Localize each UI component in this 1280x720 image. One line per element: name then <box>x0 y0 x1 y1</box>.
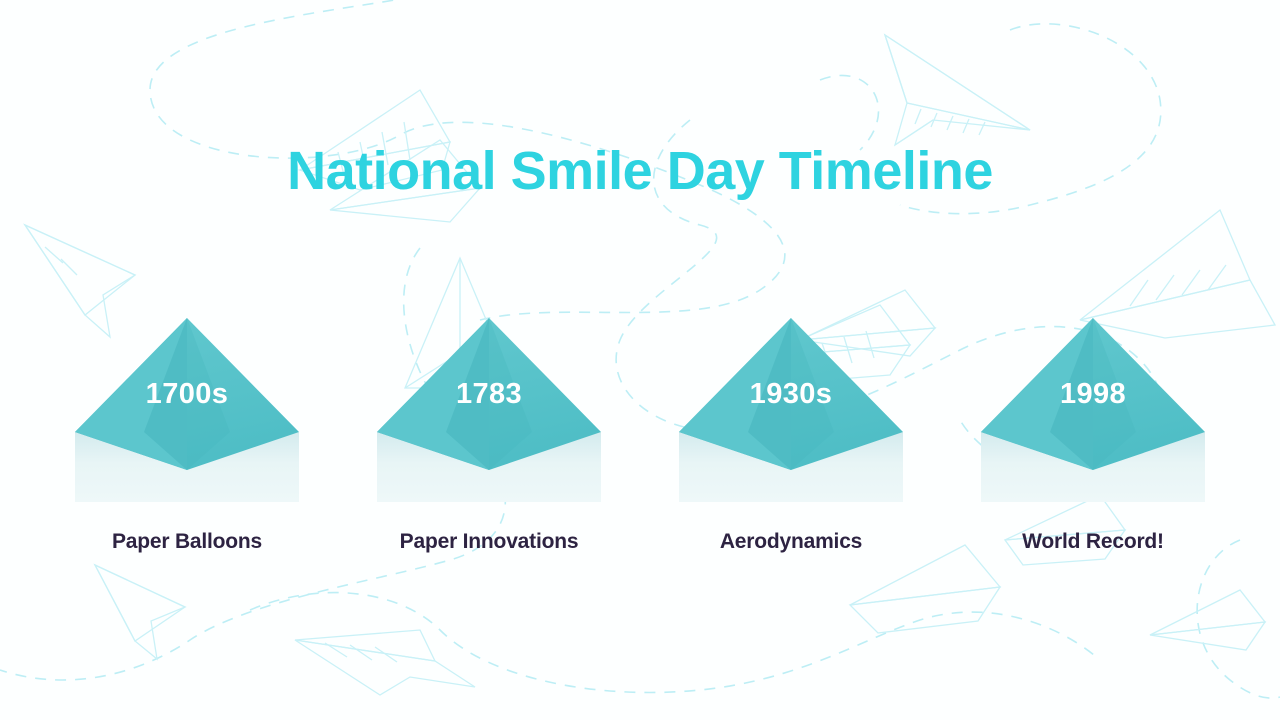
milestone-label: World Record! <box>1022 530 1164 554</box>
milestone-label: Paper Innovations <box>400 530 579 554</box>
paper-plane-icon <box>885 35 1030 145</box>
paper-plane-icon <box>1150 590 1265 650</box>
milestone-label: Aerodynamics <box>720 530 862 554</box>
envelope-icon: 1930s <box>678 318 904 503</box>
envelope-icon: 1998 <box>980 318 1206 503</box>
milestone-year: 1700s <box>74 378 300 411</box>
envelope-icon: 1700s <box>74 318 300 503</box>
milestone-label: Paper Balloons <box>112 530 262 554</box>
paper-plane-icon <box>295 630 475 695</box>
milestone-year: 1930s <box>678 378 904 411</box>
slide-canvas: National Smile Day Timeline <box>0 0 1280 720</box>
dashed-path-5 <box>250 593 1100 693</box>
paper-plane-icon <box>95 565 185 659</box>
timeline-milestone[interactable]: 1700s Paper Balloons <box>36 318 338 568</box>
timeline-milestone[interactable]: 1783 Paper Innovations <box>338 318 640 568</box>
envelope-icon: 1783 <box>376 318 602 503</box>
milestone-year: 1783 <box>376 378 602 411</box>
dashed-path-7 <box>820 75 879 150</box>
milestone-year: 1998 <box>980 378 1206 411</box>
timeline-list: 1700s Paper Balloons 1783 Paper Innovati… <box>0 318 1280 578</box>
page-title: National Smile Day Timeline <box>0 140 1280 202</box>
timeline-milestone[interactable]: 1998 World Record! <box>942 318 1244 568</box>
timeline-milestone[interactable]: 1930s Aerodynamics <box>640 318 942 568</box>
